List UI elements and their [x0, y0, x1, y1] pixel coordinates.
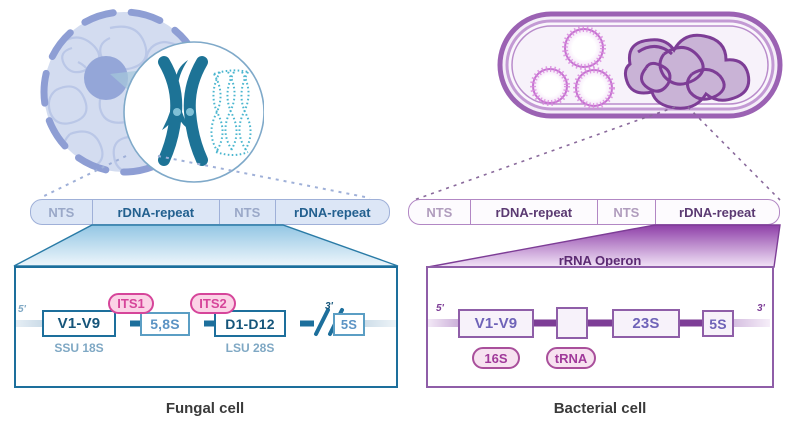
figure-root: NTS rDNA-repeat NTS rDNA-repeat — [0, 0, 794, 436]
bacterial-three-prime-label: 3' — [757, 303, 765, 314]
fungal-sublabel-lsu: LSU 28S — [212, 341, 288, 355]
fungal-nts-1: NTS — [31, 200, 93, 224]
fungal-sublabel-ssu: SSU 18S — [42, 341, 116, 355]
fungal-box-v1v9: V1-V9 — [42, 310, 116, 337]
bacterial-pill-trna: tRNA — [546, 347, 596, 369]
bacterial-box-5s: 5S — [702, 310, 734, 337]
centromere-left — [173, 108, 181, 116]
bacterial-five-prime-label: 5' — [436, 303, 444, 314]
plasmid-1 — [565, 29, 603, 67]
fungal-nts-2: NTS — [220, 200, 276, 224]
bacterial-box-23s: 23S — [612, 309, 680, 338]
centromere-right — [186, 108, 194, 116]
fungal-pill-its1: ITS1 — [108, 293, 154, 314]
fungal-pill-its2: ITS2 — [190, 293, 236, 314]
fungal-rdna-repeat-1: rDNA-repeat — [93, 200, 220, 224]
bacterial-rdna-repeat-2: rDNA-repeat — [656, 200, 779, 224]
plasmid-3 — [576, 70, 612, 106]
bacterial-rdna-repeat-1: rDNA-repeat — [471, 200, 598, 224]
fungal-connector-lines — [0, 150, 400, 205]
fungal-zoom-cone — [0, 224, 410, 270]
fungal-box-5s: 5S — [333, 313, 365, 336]
bacterial-nts-1: NTS — [409, 200, 471, 224]
bacterial-box-trna-spacer — [556, 307, 588, 339]
fungal-rdna-repeat-2: rDNA-repeat — [276, 200, 389, 224]
fungal-box-5-8s: 5,8S — [140, 312, 190, 336]
fungal-three-prime-label: 3' — [325, 301, 333, 312]
bacterial-repeat-bar: NTS rDNA-repeat NTS rDNA-repeat — [408, 199, 780, 225]
bacterial-caption: Bacterial cell — [505, 400, 695, 417]
fungal-caption: Fungal cell — [110, 400, 300, 417]
bacterial-box-v1v9: V1-V9 — [458, 309, 534, 338]
fungal-repeat-bar: NTS rDNA-repeat NTS rDNA-repeat — [30, 199, 390, 225]
plasmid-2 — [533, 69, 567, 103]
fungal-box-d1d12: D1-D12 — [214, 310, 286, 337]
bacterial-nts-2: NTS — [598, 200, 656, 224]
bacterial-connector-lines — [400, 105, 794, 205]
bacterial-pill-16s: 16S — [472, 347, 520, 369]
fungal-five-prime-label: 5' — [18, 304, 26, 315]
